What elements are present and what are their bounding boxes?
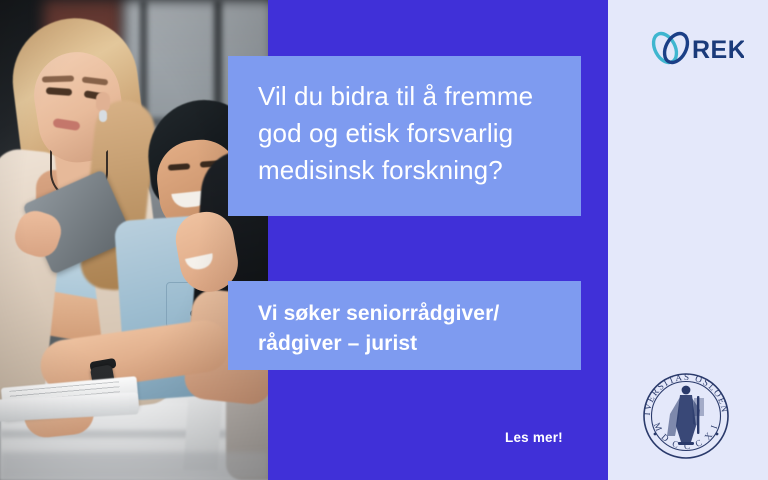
- headline-line-1: Vil du bidra til å fremme: [258, 78, 568, 115]
- subheadline-line-2: rådgiver – jurist: [258, 329, 566, 359]
- seal-apollo-figure: [667, 386, 704, 445]
- banner-root: Vil du bidra til å fremme god og etisk f…: [0, 0, 768, 480]
- headline-text: Vil du bidra til å fremme god og etisk f…: [258, 78, 568, 189]
- subheadline-box: Vi søker seniorrådgiver/ rådgiver – juri…: [228, 281, 581, 370]
- uio-seal: UNIVERSITAS OSLOENSIS M D C C C X I: [634, 364, 738, 468]
- rek-interlocking-ellipses-icon: [649, 30, 692, 67]
- subheadline-line-1: Vi søker seniorrådgiver/: [258, 299, 566, 329]
- headline-box: Vil du bidra til å fremme god og etisk f…: [228, 56, 581, 216]
- subheadline-text: Vi søker seniorrådgiver/ rådgiver – juri…: [258, 299, 566, 359]
- headline-line-3: medisinsk forskning?: [258, 152, 568, 189]
- rek-wordmark: REK: [692, 36, 744, 64]
- headline-line-2: god og etisk forsvarlig: [258, 115, 568, 152]
- rek-logo[interactable]: REK: [648, 26, 744, 70]
- read-more-link[interactable]: Les mer!: [505, 430, 563, 445]
